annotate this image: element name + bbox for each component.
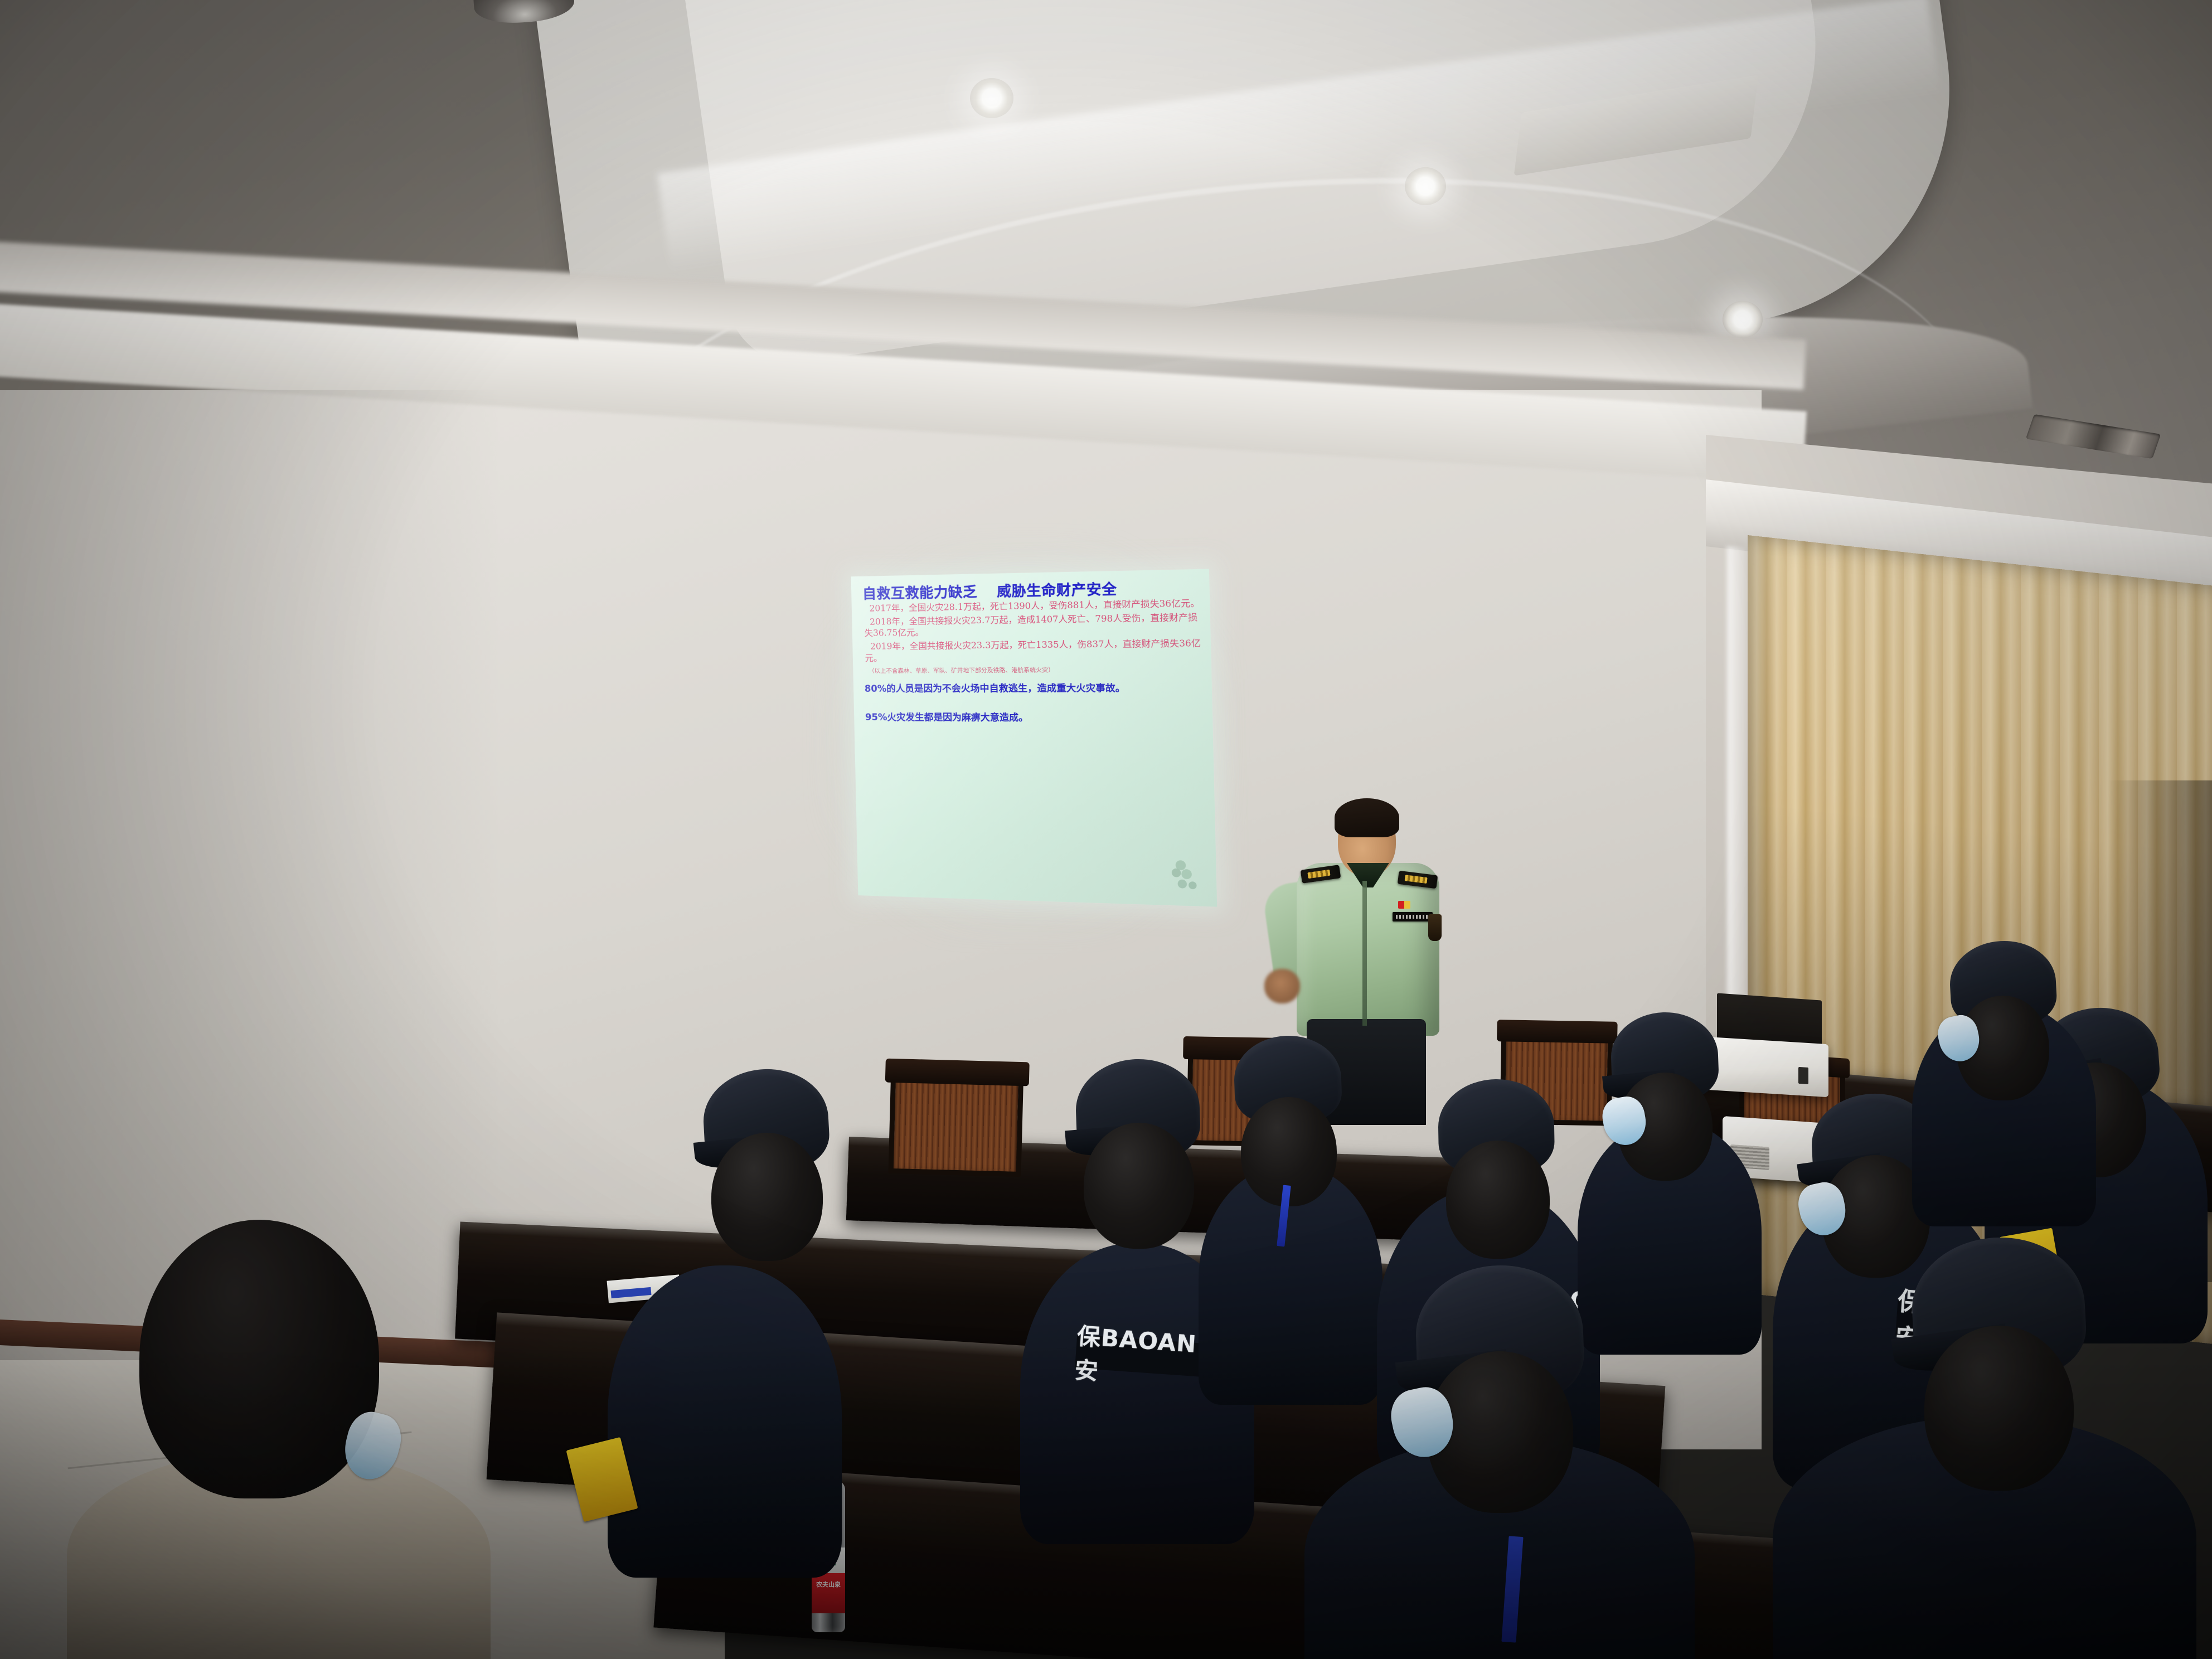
- slide-title-right: 威胁生命财产安全: [992, 581, 1117, 600]
- presenter-name-badge: [1393, 912, 1433, 921]
- slide-highlight-80: 80%的人员是因为不会火场中自救逃生，造成重大火灾事故。: [865, 682, 1204, 695]
- slide-stat-2018: 2018年，全国共接报火灾23.7万起，造成1407人死亡、798人受伤，直接财…: [864, 612, 1202, 639]
- downlight-icon: [1405, 167, 1446, 205]
- meeting-room-photo: 自救互救能力缺乏 威胁生命财产安全 2017年，全国火灾28.1万起，死亡139…: [0, 0, 2212, 1659]
- presenter-torso: [1297, 863, 1439, 1036]
- slide-title-left: 自救互救能力缺乏: [862, 584, 978, 602]
- presenter-hair: [1335, 798, 1399, 837]
- presenter-shirt-placket: [1362, 881, 1367, 1026]
- bottle-label-lower: [812, 1573, 845, 1613]
- slide-stat-2019: 2019年，全国共接报火灾23.3万起，死亡1335人，伤837人，直接财产损失…: [865, 638, 1202, 664]
- flag-pin-icon: [1398, 901, 1410, 909]
- bottle-brand-text: 农夫山泉: [809, 1580, 847, 1589]
- emblem-icon: [1168, 856, 1203, 895]
- foreground-head: [139, 1220, 379, 1498]
- presenter-hand: [1264, 969, 1300, 1003]
- slide-footnote: （以上不含森林、草原、军队、矿井地下部分及铁路、港航系统火灾）: [869, 666, 1203, 675]
- chair[interactable]: [888, 1064, 1023, 1177]
- slide-statistics: 2017年，全国火灾28.1万起，死亡1390人，受伤881人，直接财产损失36…: [864, 598, 1202, 664]
- slide-highlight-95: 95%火灾发生都是因为麻痹大意造成。: [865, 712, 1204, 725]
- presenter-arm-patch-icon: [1428, 914, 1442, 941]
- downlight-icon: [1723, 301, 1763, 338]
- back-patch-text: 保BAOAN安: [1075, 1335, 1205, 1377]
- downlight-icon: [970, 78, 1013, 118]
- projected-slide: 自救互救能力缺乏 威胁生命财产安全 2017年，全国火灾28.1万起，死亡139…: [851, 569, 1217, 907]
